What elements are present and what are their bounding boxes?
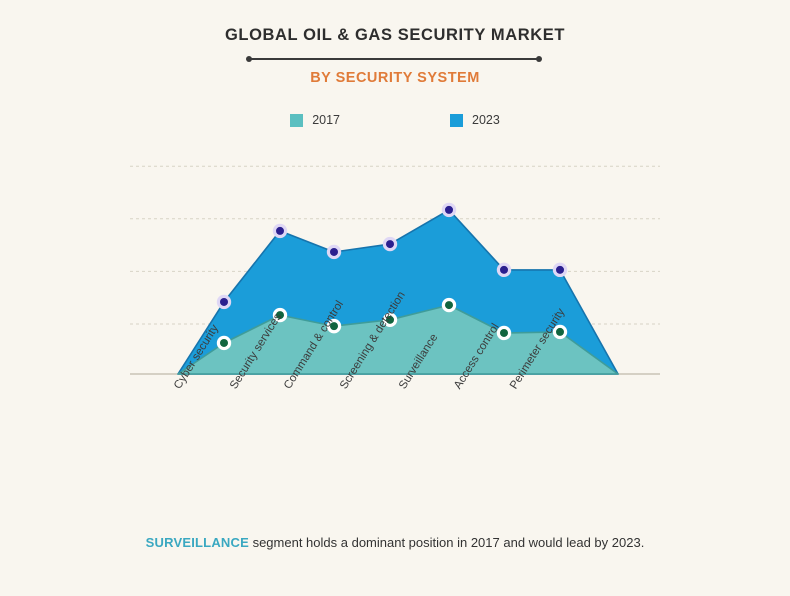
footer-highlight: SURVEILLANCE	[146, 535, 249, 550]
footer-caption: SURVEILLANCE segment holds a dominant po…	[0, 535, 790, 550]
x-axis-label-0: Cyber security	[172, 323, 221, 392]
x-axis-label-2: Command & control	[282, 299, 346, 392]
x-axis-label-6: Perimeter security	[508, 306, 567, 391]
footer-rest: segment holds a dominant position in 201…	[249, 535, 644, 550]
x-axis-labels: Cyber securitySecurity servicesCommand &…	[0, 0, 790, 596]
x-axis-label-3: Screening & detection	[338, 290, 408, 392]
infographic-root: GLOBAL OIL & GAS SECURITY MARKET BY SECU…	[0, 0, 790, 596]
x-axis-label-4: Surveillance	[397, 332, 440, 391]
x-axis-label-5: Access control	[452, 322, 502, 392]
x-axis-label-1: Security services	[228, 311, 284, 391]
